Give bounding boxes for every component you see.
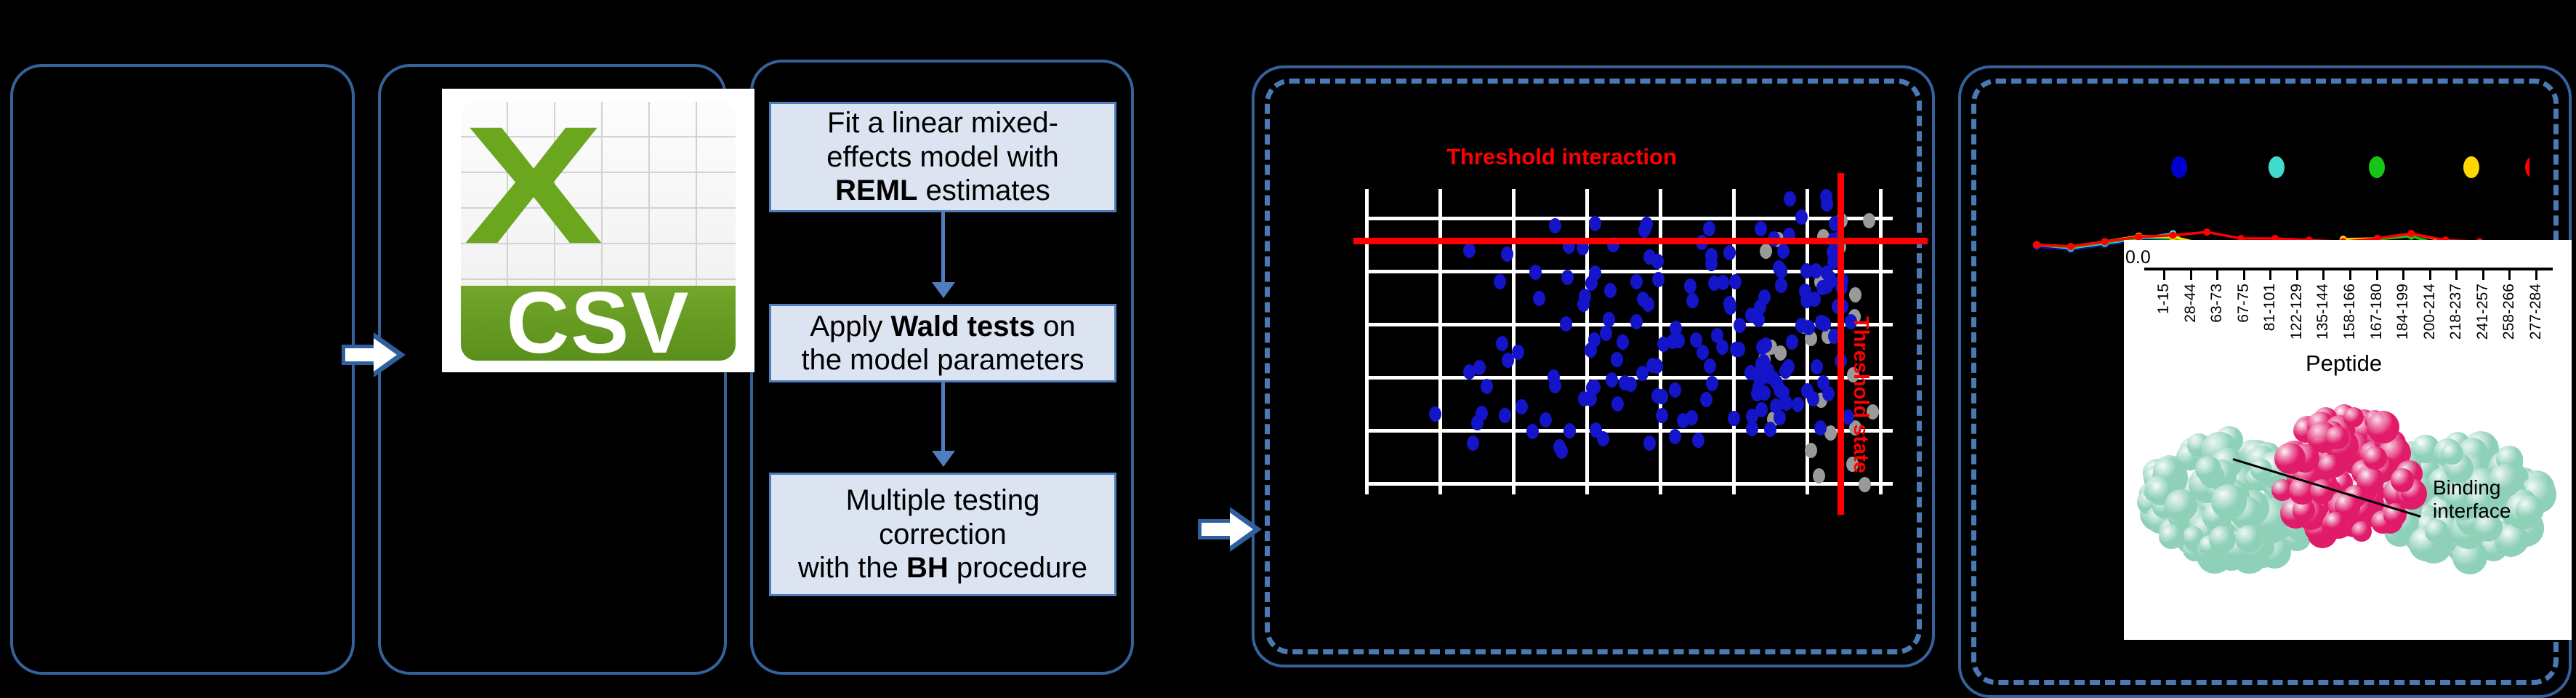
scatter-point-significant bbox=[1775, 278, 1787, 293]
scatter-point-significant bbox=[1779, 364, 1792, 379]
scatter-point-significant bbox=[1643, 436, 1656, 451]
csv-band-label: CSV bbox=[461, 286, 736, 361]
scatter-point-significant bbox=[1745, 308, 1758, 323]
scatter-point-significant bbox=[1692, 433, 1704, 448]
scatter-point-significant bbox=[1667, 334, 1679, 349]
peptide-tick bbox=[2243, 270, 2245, 280]
scatter-point-significant bbox=[1560, 316, 1572, 332]
legend-dot bbox=[2369, 156, 2385, 178]
line-marker bbox=[2067, 243, 2074, 250]
scatter-point-significant bbox=[1651, 358, 1663, 374]
scatter-point-significant bbox=[1651, 388, 1664, 404]
peptide-tick bbox=[2508, 270, 2511, 280]
connector-arrow-2 bbox=[941, 382, 945, 452]
scatter-point-significant bbox=[1473, 360, 1486, 375]
step1-line2: effects model with bbox=[826, 141, 1058, 173]
peptide-tick bbox=[2482, 270, 2484, 280]
scatter-point-significant bbox=[1800, 293, 1813, 308]
scatter-point-significant bbox=[1800, 263, 1813, 278]
line-marker bbox=[2407, 230, 2415, 237]
peptide-tick-label: 241-257 bbox=[2474, 284, 2492, 340]
scatter-point-significant bbox=[1597, 431, 1609, 446]
scatter-point-significant bbox=[1588, 332, 1601, 348]
scatter-point-significant bbox=[1729, 274, 1742, 289]
threshold-scatter-plot: Threshold interaction Threshold state bbox=[1352, 145, 1904, 523]
peptide-tick-label: 1-15 bbox=[2155, 284, 2173, 314]
scatter-point-significant bbox=[1611, 396, 1624, 412]
protein-atom bbox=[2516, 496, 2544, 524]
scatter-point-significant bbox=[1652, 272, 1665, 287]
scatter-point-significant bbox=[1589, 216, 1601, 231]
scatter-point-significant bbox=[1604, 283, 1617, 298]
epitope-atom bbox=[2363, 446, 2387, 470]
epitope-atom bbox=[2325, 512, 2346, 533]
scatter-point-nonsignificant bbox=[1813, 468, 1825, 484]
scatter-point-nonsignificant bbox=[1805, 443, 1817, 458]
scatter-point-significant bbox=[1642, 297, 1654, 312]
peptide-tick-label: 122-129 bbox=[2288, 284, 2306, 340]
epitope-atom bbox=[2391, 468, 2414, 492]
threshold-state-label: Threshold state bbox=[1848, 316, 1872, 473]
scatter-point-significant bbox=[1526, 424, 1539, 439]
peptide-tick bbox=[2322, 270, 2325, 280]
step-wald-tests-box: Apply Wald tests on the model parameters bbox=[769, 304, 1116, 382]
scatter-point-significant bbox=[1723, 245, 1736, 260]
peptide-tick bbox=[2216, 270, 2218, 280]
line-marker bbox=[2203, 228, 2210, 236]
protein-atom bbox=[2235, 525, 2263, 553]
scatter-point-significant bbox=[1656, 408, 1668, 423]
peptide-tick-label: 63-73 bbox=[2208, 284, 2226, 323]
scatter-point-significant bbox=[1547, 369, 1560, 385]
scatter-point-significant bbox=[1822, 386, 1835, 401]
scatter-point-significant bbox=[1502, 353, 1514, 368]
peptide-tick bbox=[2163, 270, 2165, 280]
step2-wald: Wald tests bbox=[891, 310, 1036, 342]
epitope-atom bbox=[2367, 411, 2399, 444]
scatter-point-significant bbox=[1630, 314, 1643, 329]
peptide-tick-label: 28-44 bbox=[2182, 284, 2199, 323]
protein-atom bbox=[2165, 489, 2197, 522]
protein-atom bbox=[2209, 526, 2236, 553]
epitope-atom bbox=[2325, 426, 2349, 450]
scatter-point-significant bbox=[1481, 379, 1493, 394]
scatter-point-significant bbox=[1774, 410, 1786, 425]
step1-reml: REML bbox=[835, 174, 917, 206]
scatter-point-significant bbox=[1630, 274, 1643, 289]
peptide-tick bbox=[2455, 270, 2458, 280]
structure-card: 0.0 1-1528-4463-7367-7581-101122-129135-… bbox=[2124, 240, 2572, 640]
scatter-point-significant bbox=[1669, 382, 1681, 398]
scatter-point-significant bbox=[1777, 244, 1790, 259]
scatter-point-nonsignificant bbox=[1760, 244, 1772, 259]
excel-x-glyph: X bbox=[478, 112, 587, 262]
scatter-point-significant bbox=[1651, 254, 1664, 269]
step2-post: on bbox=[1035, 310, 1076, 342]
step3-line2: correction bbox=[879, 518, 1007, 550]
scatter-point-significant bbox=[1758, 289, 1771, 305]
peptide-axis-line bbox=[2144, 268, 2553, 270]
scatter-point-significant bbox=[1579, 289, 1591, 304]
peptide-tick-label: 200-214 bbox=[2421, 284, 2439, 340]
scatter-point-significant bbox=[1606, 372, 1618, 388]
step1-line1: Fit a linear mixed- bbox=[827, 107, 1058, 139]
scatter-point-significant bbox=[1703, 221, 1715, 236]
scatter-point-significant bbox=[1801, 383, 1814, 398]
scatter-point-significant bbox=[1549, 218, 1561, 233]
scatter-point-significant bbox=[1467, 436, 1479, 451]
scatter-point-significant bbox=[1600, 326, 1612, 341]
threshold-interaction-label: Threshold interaction bbox=[1446, 144, 1677, 170]
input-panel bbox=[10, 64, 355, 675]
connector-arrow-1 bbox=[941, 212, 945, 284]
scatter-point-significant bbox=[1617, 334, 1629, 350]
scatter-point-significant bbox=[1795, 209, 1808, 225]
scatter-point-nonsignificant bbox=[1849, 287, 1861, 302]
legend-dot bbox=[2463, 156, 2479, 178]
peptide-tick bbox=[2402, 270, 2404, 280]
scatter-point-significant bbox=[1816, 280, 1829, 295]
scatter-point-significant bbox=[1625, 377, 1637, 392]
csv-file-icon: X CSV bbox=[442, 89, 754, 372]
scatter-point-significant bbox=[1758, 385, 1771, 401]
scatter-point-significant bbox=[1471, 415, 1484, 430]
step-fit-model-box: Fit a linear mixed- effects model with R… bbox=[769, 102, 1116, 212]
scatter-point-significant bbox=[1723, 296, 1736, 311]
peptide-tick bbox=[2296, 270, 2298, 280]
scatter-point-significant bbox=[1755, 402, 1768, 417]
line-marker bbox=[2101, 238, 2109, 245]
protein-atom bbox=[2441, 443, 2463, 465]
peptide-tick-label: 184-199 bbox=[2394, 284, 2412, 340]
scatter-point-significant bbox=[1706, 376, 1718, 391]
scatter-point-significant bbox=[1792, 397, 1804, 412]
scatter-point-significant bbox=[1696, 345, 1709, 360]
step2-line2: the model parameters bbox=[801, 344, 1084, 376]
protein-atom bbox=[2159, 524, 2184, 550]
protein-atom bbox=[2195, 456, 2221, 482]
scatter-point-significant bbox=[1705, 248, 1718, 263]
scatter-point-significant bbox=[1746, 421, 1758, 436]
scatter-point-significant bbox=[1773, 260, 1785, 276]
peptide-tick bbox=[2376, 270, 2378, 280]
scatter-point-significant bbox=[1499, 408, 1511, 423]
scatter-point-significant bbox=[1684, 278, 1696, 294]
step3-line3-post: procedure bbox=[949, 552, 1087, 584]
scatter-point-significant bbox=[1717, 275, 1729, 290]
peptide-tick-label: 258-266 bbox=[2500, 284, 2518, 340]
peptide-tick bbox=[2535, 270, 2537, 280]
binding-interface-annotation: Binding interface bbox=[2433, 476, 2511, 523]
annot-line2: interface bbox=[2433, 500, 2511, 523]
scatter-point-significant bbox=[1764, 422, 1776, 437]
scatter-point-significant bbox=[1611, 352, 1623, 367]
annot-line1: Binding bbox=[2433, 476, 2511, 500]
scatter-point-significant bbox=[1815, 315, 1827, 330]
scatter-plot-area: Threshold state bbox=[1365, 189, 1893, 494]
scatter-point-nonsignificant bbox=[1863, 213, 1875, 228]
scatter-point-nonsignificant bbox=[1859, 477, 1871, 492]
scatter-point-significant bbox=[1700, 392, 1712, 407]
peptide-tick bbox=[2349, 270, 2351, 280]
scatter-point-significant bbox=[1494, 274, 1506, 289]
step2-pre: Apply bbox=[810, 310, 890, 342]
line-marker bbox=[2033, 241, 2040, 249]
step3-bh: BH bbox=[906, 552, 949, 584]
step3-line1: Multiple testing bbox=[846, 484, 1040, 516]
line-marker bbox=[2169, 232, 2176, 239]
peptide-axis-label: Peptide bbox=[2306, 350, 2382, 377]
scatter-point-significant bbox=[1669, 429, 1681, 444]
epitope-atom bbox=[2343, 407, 2364, 428]
epitope-atom bbox=[2351, 521, 2372, 542]
scatter-point-significant bbox=[1429, 406, 1441, 422]
protein-atom bbox=[2211, 484, 2246, 519]
scatter-point-significant bbox=[1686, 410, 1698, 425]
epitope-atom bbox=[2274, 443, 2306, 474]
scatter-point-significant bbox=[1756, 340, 1768, 355]
scatter-point-significant bbox=[1589, 265, 1601, 281]
legend-dot bbox=[2171, 156, 2187, 178]
scatter-point-significant bbox=[1578, 391, 1590, 406]
scatter-point-significant bbox=[1733, 342, 1745, 357]
scatter-point-significant bbox=[1561, 270, 1574, 285]
scatter-point-significant bbox=[1533, 291, 1545, 306]
arrow-pipeline-to-results bbox=[1198, 509, 1260, 550]
scatter-point-significant bbox=[1641, 217, 1653, 232]
peptide-tick bbox=[2429, 270, 2431, 280]
scatter-point-significant bbox=[1786, 334, 1798, 350]
scatter-point-significant bbox=[1734, 318, 1746, 333]
legend-dot bbox=[2525, 156, 2529, 178]
legend-dot bbox=[2269, 156, 2285, 178]
threshold-state-line bbox=[1838, 173, 1844, 515]
scatter-point-significant bbox=[1728, 411, 1740, 426]
scatter-point-significant bbox=[1463, 243, 1476, 258]
peptide-tick bbox=[2190, 270, 2192, 280]
scatter-point-significant bbox=[1811, 359, 1823, 374]
scatter-point-significant bbox=[1603, 312, 1615, 327]
scatter-point-significant bbox=[1774, 382, 1786, 398]
scatter-point-significant bbox=[1501, 246, 1513, 262]
scatter-point-significant bbox=[1784, 191, 1796, 206]
scatter-point-significant bbox=[1704, 358, 1716, 374]
scatter-point-significant bbox=[1539, 412, 1552, 428]
arrow-input-to-csv bbox=[342, 334, 404, 375]
peptide-tick-label: 67-75 bbox=[2235, 284, 2253, 323]
peptide-tick-label: 158-166 bbox=[2341, 284, 2359, 340]
peptide-tick-label: 277-284 bbox=[2527, 284, 2545, 340]
peptide-tick-label: 218-237 bbox=[2447, 284, 2465, 340]
y-tick-label: 0.0 bbox=[2125, 247, 2151, 268]
scatter-point-significant bbox=[1496, 336, 1508, 351]
peptide-tick-label: 135-144 bbox=[2314, 284, 2332, 340]
peptide-tick-label: 81-101 bbox=[2261, 284, 2279, 331]
scatter-point-significant bbox=[1516, 399, 1528, 414]
scatter-point-significant bbox=[1686, 293, 1699, 308]
scatter-point-significant bbox=[1755, 221, 1767, 236]
scatter-point-significant bbox=[1711, 328, 1723, 343]
step1-line3-rest: estimates bbox=[918, 174, 1050, 206]
peptide-tick-label: 167-180 bbox=[2368, 284, 2386, 340]
scatter-point-significant bbox=[1563, 423, 1576, 438]
peptide-tick bbox=[2269, 270, 2271, 280]
scatter-point-significant bbox=[1529, 265, 1542, 280]
step3-line3-pre: with the bbox=[798, 552, 906, 584]
step-multiple-testing-box: Multiple testing correction with the BH … bbox=[769, 473, 1116, 596]
